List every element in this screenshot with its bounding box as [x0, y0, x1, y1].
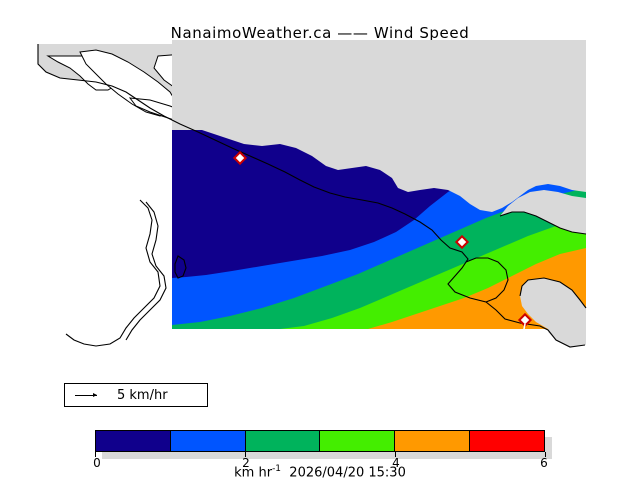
map-plot-area[interactable]: [0, 40, 640, 360]
colorbar-segment-5-6: [469, 431, 544, 451]
colorbar-segment-2-3: [245, 431, 320, 451]
colorbar-timestamp: 2026/04/20 15:30: [281, 465, 406, 480]
map-svg: [0, 40, 640, 360]
colorbar-units-exponent: -1: [272, 464, 281, 474]
land-above-field: [172, 40, 586, 130]
colorbar-segment-3-4: [319, 431, 394, 451]
vector-scale-legend: 5 km/hr: [64, 383, 208, 407]
vector-scale-label: 5 km/hr: [117, 388, 168, 403]
colorbar-segment-4-5: [394, 431, 469, 451]
colorbar-segment-0-1: [96, 431, 170, 451]
colorbar-ticks: [95, 452, 546, 458]
colorbar-segment-1-2: [170, 431, 245, 451]
weather-map-page: NanaimoWeather.ca —— Wind Speed: [0, 0, 640, 480]
colorbar[interactable]: [95, 430, 545, 452]
colorbar-caption: km hr-1 2026/04/20 15:30: [0, 464, 640, 480]
colorbar-units: km hr: [234, 465, 272, 480]
wind-vector-arrow-icon: [75, 395, 97, 396]
